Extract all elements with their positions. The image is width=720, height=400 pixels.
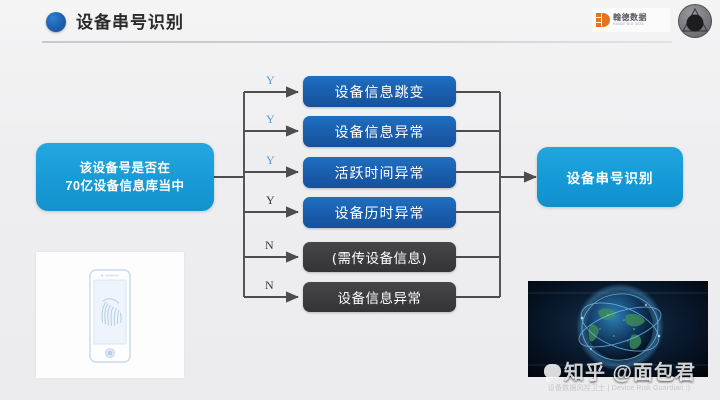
decision-line-2: 70亿设备信息库当中 [66,177,185,195]
flow-node-6[interactable]: 设备信息异常 [303,282,456,312]
slide-canvas: 设备串号识别 翰德数据 HANDE BIG DATA [0,0,720,400]
chat-bubble-icon [544,364,561,378]
branch-label-5: N [265,239,274,251]
phone-illustration-card [36,252,184,378]
branch-label-2: Y [266,113,275,125]
flow-node-5[interactable]: (需传设备信息) [303,242,456,272]
decision-line-1: 该设备号是否在 [66,159,185,177]
watermark: 知乎 @面包君 [530,356,710,385]
branch-label-6: N [265,279,274,291]
branch-label-3: Y [266,154,275,166]
branch-label-1: Y [266,74,275,86]
smartphone-fingerprint-icon [36,252,184,378]
decision-node[interactable]: 该设备号是否在 70亿设备信息库当中 [36,143,214,211]
flow-node-3[interactable]: 活跃时间异常 [303,157,456,188]
branch-label-4: Y [266,194,275,206]
globe-caption: 设备数据风控卫士 | Device Risk Guardian :) [528,383,710,393]
watermark-text: 知乎 @面包君 [564,356,696,385]
output-node[interactable]: 设备串号识别 [537,147,683,207]
flow-node-1[interactable]: 设备信息跳变 [303,76,456,107]
flow-node-2[interactable]: 设备信息异常 [303,116,456,147]
flow-node-4[interactable]: 设备历时异常 [303,197,456,228]
